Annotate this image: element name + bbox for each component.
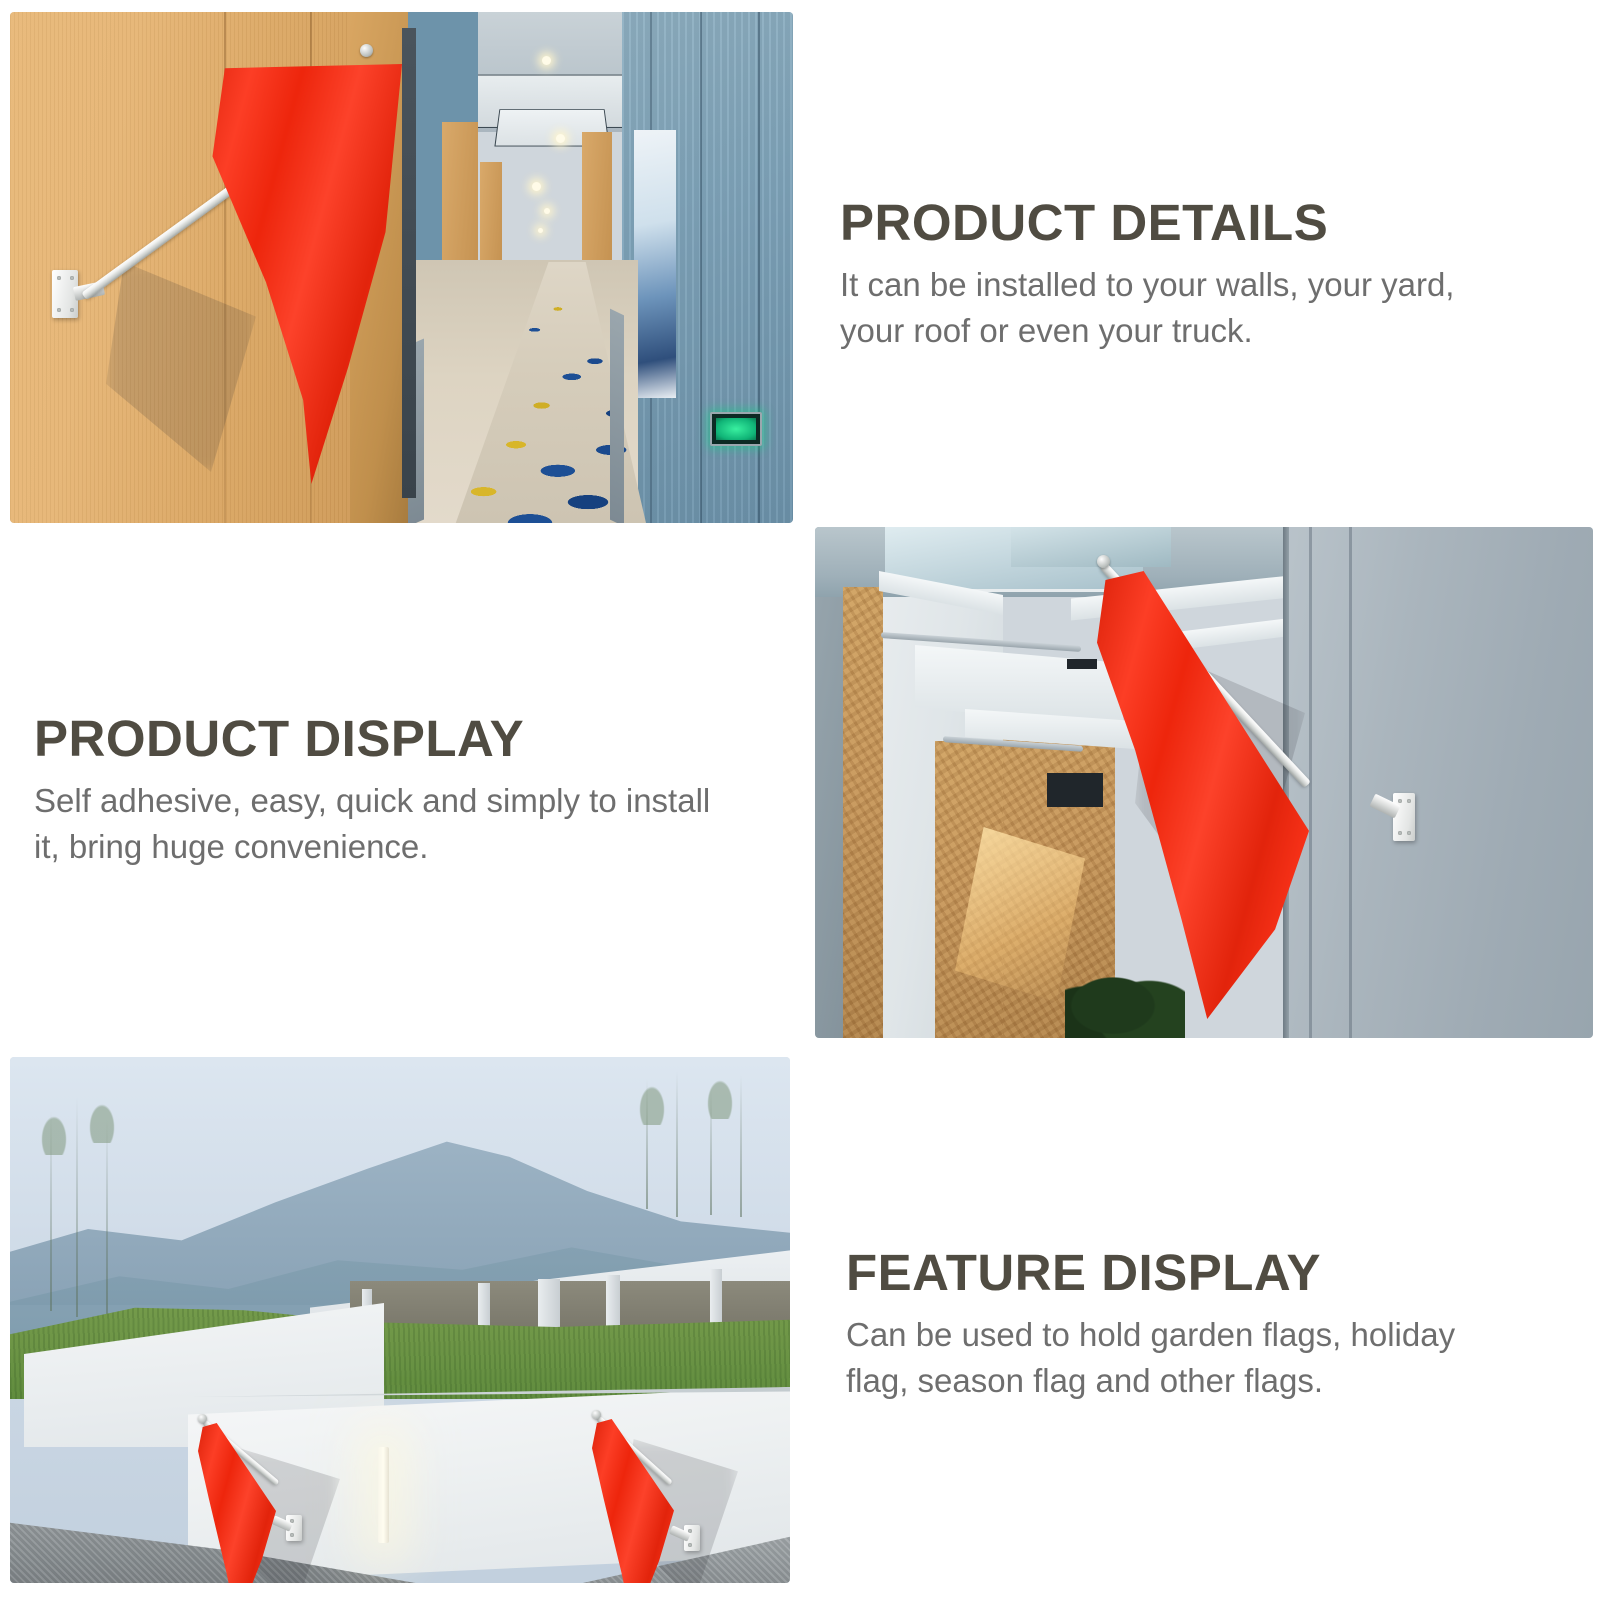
- bracket-screw: [1398, 799, 1402, 803]
- skylight-glass-upper: [1011, 527, 1171, 567]
- product-details-heading: PRODUCT DETAILS: [840, 196, 1540, 250]
- osb-wall-left: [843, 587, 883, 1038]
- ceiling-spotlight: [542, 56, 551, 65]
- wall-seam: [1349, 527, 1352, 1038]
- feature-display-line-1: Can be used to hold garden flags, holida…: [846, 1312, 1546, 1359]
- product-display-heading: PRODUCT DISPLAY: [34, 712, 774, 766]
- bamboo-stalk: [676, 1071, 678, 1217]
- ceiling-spotlight: [538, 228, 543, 233]
- exit-sign-glow: [716, 418, 756, 440]
- bamboo-stalk: [76, 1097, 78, 1317]
- floor-baseboard: [610, 309, 624, 523]
- product-display-line-1: Self adhesive, easy, quick and simply to…: [34, 778, 774, 825]
- bracket-screw: [1407, 799, 1411, 803]
- pole-end-knob: [360, 44, 373, 57]
- bracket-screw: [70, 276, 74, 280]
- bracket-screw: [1407, 831, 1411, 835]
- bracket-screw: [70, 308, 74, 312]
- corridor-door-frame: [402, 28, 416, 498]
- wall-seam: [758, 12, 760, 523]
- pole-end-knob: [198, 1414, 207, 1423]
- bracket-wall-plate: [1393, 793, 1415, 841]
- bamboo-foliage: [632, 1073, 672, 1125]
- ceiling-spotlight: [544, 208, 550, 214]
- pole-end-knob: [1097, 555, 1110, 568]
- bracket-screw: [688, 1543, 692, 1547]
- alley-foliage: [1065, 957, 1185, 1038]
- pole-end-knob: [592, 1410, 601, 1419]
- ceiling-spotlight: [556, 134, 565, 143]
- wall-marker: [1067, 659, 1097, 669]
- bamboo-stalk: [106, 1119, 108, 1315]
- alley-grey-wall: [1285, 527, 1593, 1038]
- corridor-artwork: [634, 130, 676, 398]
- wall-seam: [700, 12, 702, 523]
- product-display-text: PRODUCT DISPLAY Self adhesive, easy, qui…: [34, 712, 774, 871]
- feature-display-heading: FEATURE DISPLAY: [846, 1246, 1546, 1300]
- product-display-line-2: it, bring huge convenience.: [34, 824, 774, 871]
- header-beam-2: [1175, 618, 1291, 650]
- bamboo-stalk: [740, 1075, 742, 1217]
- bracket-screw: [57, 308, 61, 312]
- marketing-sheet: PRODUCT DETAILS It can be installed to y…: [0, 0, 1601, 1601]
- bamboo-foliage: [700, 1067, 740, 1119]
- product-details-text: PRODUCT DETAILS It can be installed to y…: [840, 196, 1540, 355]
- feature-display-text: FEATURE DISPLAY Can be used to hold gard…: [846, 1246, 1546, 1405]
- bracket-screw: [290, 1533, 294, 1537]
- wall-vent: [1047, 773, 1103, 807]
- feature-display-line-2: flag, season flag and other flags.: [846, 1358, 1546, 1405]
- product-details-line-1: It can be installed to your walls, your …: [840, 262, 1540, 309]
- wall-light: [378, 1447, 389, 1543]
- outdoor-wall-photo: [10, 1057, 790, 1583]
- bracket-screw: [1398, 831, 1402, 835]
- bamboo-foliage: [34, 1103, 74, 1155]
- alley-passage-photo: [815, 527, 1593, 1038]
- product-details-line-2: your roof or even your truck.: [840, 308, 1540, 355]
- ceiling-spotlight: [532, 182, 541, 191]
- hotel-corridor-photo: [10, 12, 793, 523]
- bamboo-foliage: [82, 1091, 122, 1143]
- bracket-screw: [57, 276, 61, 280]
- emergency-exit-sign: [710, 412, 762, 446]
